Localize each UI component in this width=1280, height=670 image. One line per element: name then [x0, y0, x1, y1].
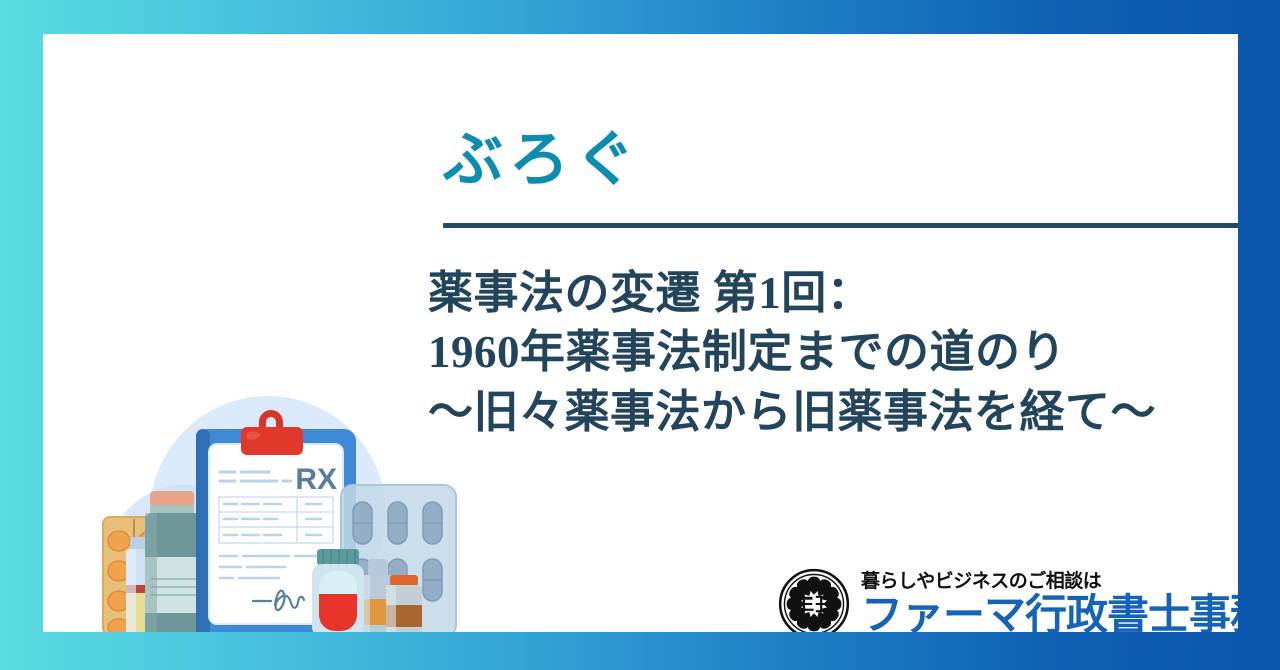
brand-logo[interactable]: 暮らしやビジネスのご相談は ファーマ行政書士事務所: [778, 568, 1238, 632]
page-kicker: ぶろぐ: [443, 130, 641, 190]
brown-medicine-bottle: [386, 575, 422, 632]
gyoseishoshi-cosmos-badge: [778, 568, 850, 632]
clipboard-rx-label: RX: [295, 463, 337, 496]
logo-tagline: 暮らしやビジネスのご相談は: [861, 571, 1238, 593]
pharmacy-prescription-illustration: RX: [93, 389, 473, 632]
logo-text-block: 暮らしやビジネスのご相談は ファーマ行政書士事務所: [861, 571, 1238, 632]
logo-name: ファーマ行政書士事務所: [861, 593, 1238, 632]
teal-medicine-bottle: [145, 491, 201, 632]
content-card: ぶろぐ 薬事法の変遷 第1回： 1960年薬事法制定までの道のり 〜旧々薬事法か…: [43, 34, 1238, 632]
page-title: 薬事法の変遷 第1回： 1960年薬事法制定までの道のり 〜旧々薬事法から旧薬事…: [428, 264, 1238, 442]
red-liquid-bottle: [312, 549, 364, 632]
header-divider: [443, 223, 1238, 228]
poster-canvas: ぶろぐ 薬事法の変遷 第1回： 1960年薬事法制定までの道のり 〜旧々薬事法か…: [0, 0, 1280, 670]
